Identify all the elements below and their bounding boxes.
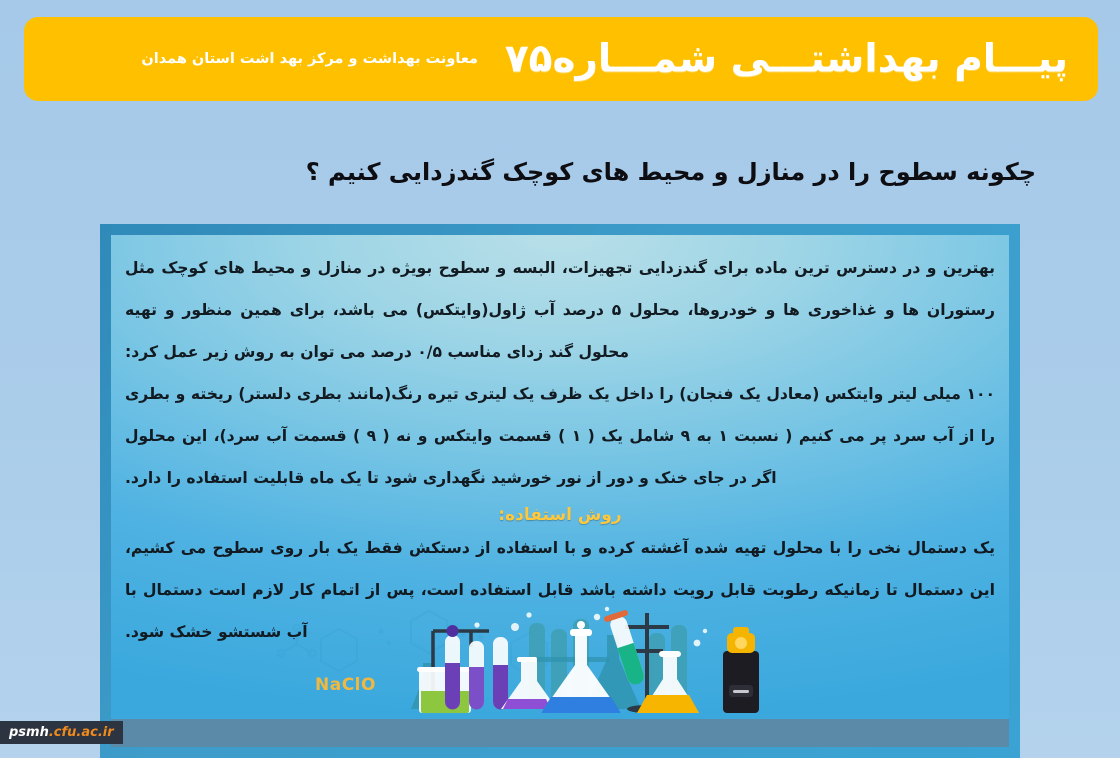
paragraph-intro: بهترین و در دسترس ترین ماده برای گندزدای… [125, 247, 995, 373]
illustration-floor [111, 719, 1009, 747]
page-title: پیـــام بهداشتـــی شمـــاره۷۵ [505, 40, 1068, 79]
lab-illustration: NaClO [111, 612, 1009, 747]
usage-section-heading: روش استفاده: [125, 505, 995, 525]
content-panel: بهترین و در دسترس ترین ماده برای گندزدای… [100, 224, 1020, 758]
header-banner: پیـــام بهداشتـــی شمـــاره۷۵ معاونت بهد… [24, 17, 1098, 101]
naclo-label: NaClO [315, 675, 376, 695]
watermark: psmh.cfu.ac.ir [0, 721, 123, 744]
panel-text-block: بهترین و در دسترس ترین ماده برای گندزدای… [125, 247, 995, 653]
question-heading: چکونه سطوح را در منازل و محیط های کوچک گ… [306, 158, 1036, 187]
glassware-group-icon [411, 605, 811, 723]
paragraph-preparation: ۱۰۰ میلی لیتر وایتکس (معادل یک فنجان) را… [125, 373, 995, 499]
panel-inner: بهترین و در دسترس ترین ماده برای گندزدای… [111, 235, 1009, 747]
header-subtitle: معاونت بهداشت و مرکز بهد اشت استان همدان [141, 52, 478, 67]
watermark-secondary: .cfu.ac.ir [49, 725, 114, 740]
watermark-primary: psmh [9, 725, 49, 740]
poster-page: پیـــام بهداشتـــی شمـــاره۷۵ معاونت بهد… [0, 0, 1120, 758]
